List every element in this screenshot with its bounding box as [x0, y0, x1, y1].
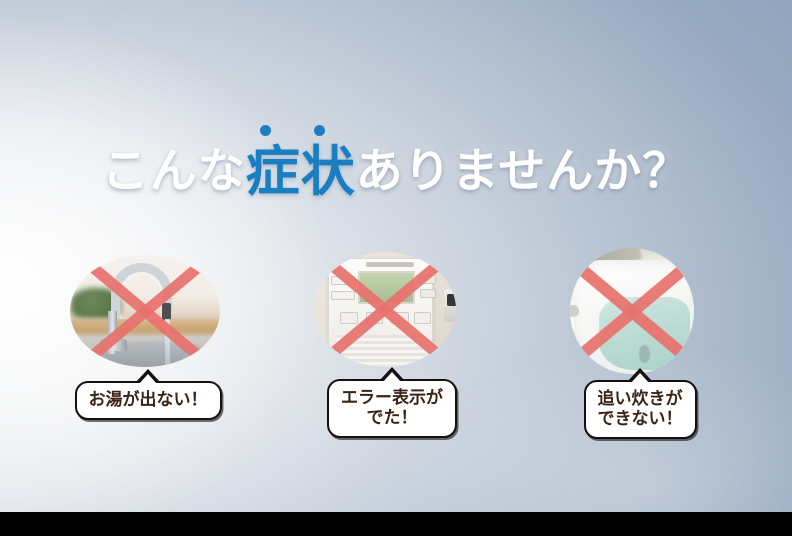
symptom-card-group: お湯が出ない！: [0, 0, 792, 512]
bubble-tail-fill: [138, 374, 158, 385]
remote-button: [391, 312, 408, 324]
wall-sensor-eye: [447, 294, 456, 306]
caption-line-1: お湯が出ない！: [89, 390, 208, 409]
caption-wrapper: 追い炊きが できない！: [540, 380, 740, 439]
bathtub-photo: [570, 248, 694, 374]
remote-speaker-vent: [337, 335, 424, 366]
kitchen-faucet-photo: [70, 255, 220, 367]
remote-brand-label: [366, 262, 414, 267]
status-badge: お湯が出ない！: [75, 381, 222, 420]
caption-line-2: でた！: [341, 408, 443, 428]
symptom-card: エラー表示が でた！: [292, 252, 492, 438]
hero-panel: こんな症状ありませんか？: [0, 0, 792, 512]
remote-side-button: [420, 275, 436, 284]
remote-lcd-screen: [358, 271, 415, 304]
bottom-white-strip: [0, 536, 792, 542]
slide-canvas: こんな症状ありませんか？: [0, 0, 792, 542]
status-badge: 追い炊きが できない！: [584, 380, 697, 439]
remote-text-label: [331, 291, 355, 300]
bathtub-scene: [570, 248, 694, 374]
bubble-tail-fill: [630, 373, 650, 384]
counter-edge: [70, 319, 220, 334]
remote-scene: [314, 252, 456, 367]
caption-line-1: エラー表示が: [341, 388, 443, 407]
bubble-tail-fill: [382, 372, 402, 383]
status-badge: エラー表示が でた！: [327, 379, 457, 438]
remote-text-label: [331, 276, 355, 285]
symptom-card: お湯が出ない！: [48, 255, 248, 420]
remote-side-button: [420, 289, 436, 298]
remote-button: [366, 312, 383, 324]
caption-line-1: 追い炊きが: [598, 389, 683, 408]
faucet-spout: [162, 303, 171, 319]
caption-wrapper: エラー表示が でた！: [292, 379, 492, 438]
caption-line-2: できない！: [598, 409, 683, 429]
symptom-card: 追い炊きが できない！: [540, 248, 740, 439]
water-heater-remote-control-photo: [314, 252, 456, 367]
water-stream: [165, 319, 170, 367]
remote-button: [414, 312, 431, 324]
faucet-scene: [70, 255, 220, 367]
remote-button: [340, 312, 357, 324]
caption-wrapper: お湯が出ない！: [48, 381, 248, 420]
faucet-base: [100, 339, 127, 352]
